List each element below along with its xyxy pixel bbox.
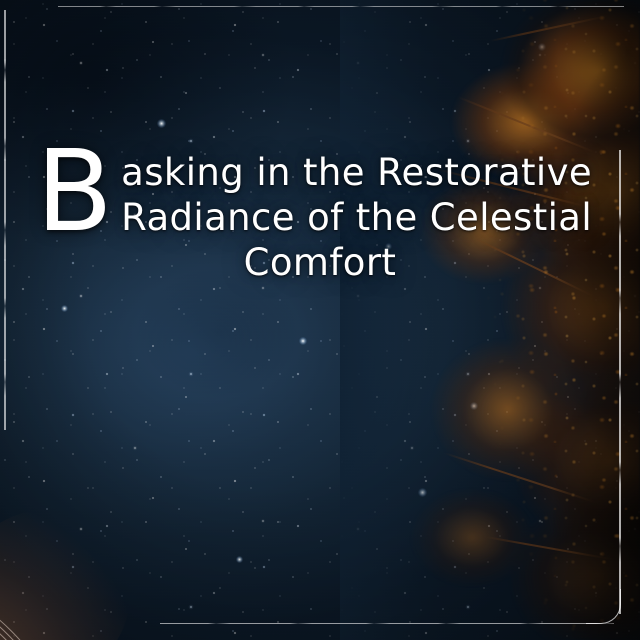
title-dropcap: B: [36, 144, 113, 240]
title-block: Basking in the RestorativeRadiance of th…: [0, 150, 640, 285]
title-card-canvas: Basking in the RestorativeRadiance of th…: [0, 0, 640, 640]
title-line-3: Comfort: [34, 240, 606, 285]
page-title: Basking in the RestorativeRadiance of th…: [0, 150, 640, 285]
title-line-2: Radiance of the Celestial: [34, 195, 606, 240]
title-line-1: asking in the Restorative: [34, 150, 606, 195]
